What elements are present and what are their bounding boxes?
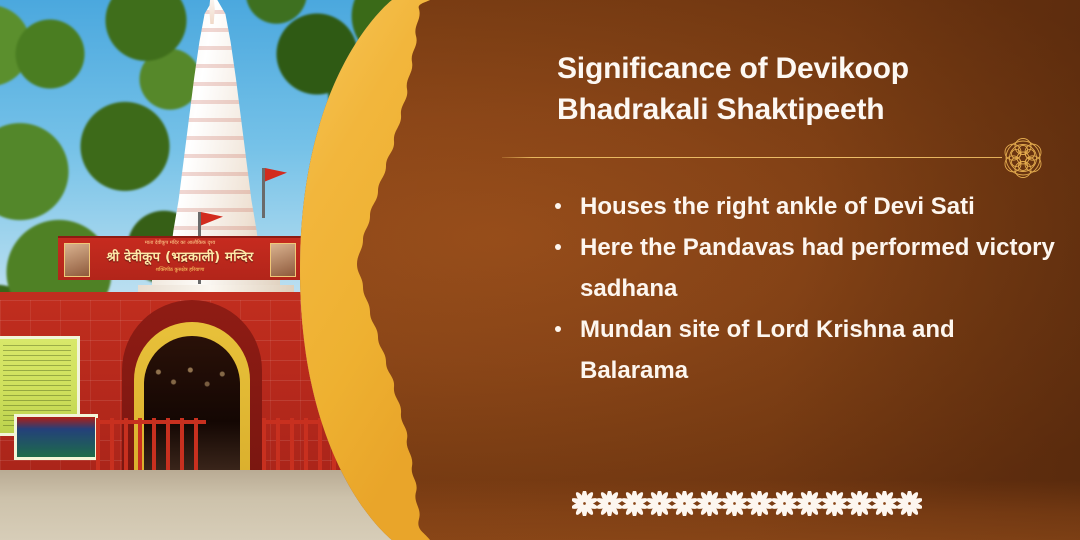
flower-divider-row <box>572 486 932 520</box>
gold-divider-line <box>502 157 1002 158</box>
flower-ornament-icon <box>697 491 722 516</box>
foreground-tree-trunk <box>0 0 500 540</box>
page-title-line-1: Significance of Devikoop <box>557 48 1027 89</box>
flower-ornament-icon <box>622 491 647 516</box>
flower-ornament-icon <box>572 491 597 516</box>
list-item-label: Mundan site of Lord Krishna and Balarama <box>580 316 955 384</box>
page-title: Significance of Devikoop Bhadrakali Shak… <box>557 48 1027 130</box>
flower-ornament-icon <box>747 491 772 516</box>
temple-flag-3 <box>344 206 347 302</box>
flower-ornament-icon <box>872 491 897 516</box>
flower-ornament-icon <box>897 491 922 516</box>
flower-ornament-icon <box>722 491 747 516</box>
temple-photo: माता देवीकूप मंदिर का आलौकिक दृश्य श्री … <box>0 0 500 540</box>
mandala-rosette-icon <box>995 130 1051 186</box>
list-item: Here the Pandavas had performed victory … <box>545 227 1065 309</box>
list-item: Mundan site of Lord Krishna and Balarama <box>545 309 1065 391</box>
notice-board-right-text-lines <box>389 339 473 427</box>
bicycle <box>400 424 444 468</box>
flower-ornament-icon <box>672 491 697 516</box>
flower-ornament-icon <box>797 491 822 516</box>
bicycle-wheel-front <box>400 438 428 466</box>
bullet-point-icon <box>555 244 561 250</box>
list-item: Houses the right ankle of Devi Sati <box>545 186 1065 227</box>
flower-ornament-icon <box>847 491 872 516</box>
bullet-list: Houses the right ankle of Devi Sati Here… <box>545 186 1065 391</box>
bicycle-wheel-rear <box>420 438 448 466</box>
temple-shikhara-secondary <box>300 190 372 300</box>
list-item-label: Here the Pandavas had performed victory … <box>580 234 1055 302</box>
notice-board-right <box>380 330 482 436</box>
photo-scene: माता देवीकूप मंदिर का आलौकिक दृश्य श्री … <box>0 0 500 540</box>
flower-ornament-icon <box>822 491 847 516</box>
slide-root: माता देवीकूप मंदिर का आलौकिक दृश्य श्री … <box>0 0 1080 540</box>
page-title-line-2: Bhadrakali Shaktipeeth <box>557 89 1027 130</box>
content-panel: Significance of Devikoop Bhadrakali Shak… <box>500 0 1080 540</box>
flower-ornament-icon <box>647 491 672 516</box>
flower-ornament-icon <box>597 491 622 516</box>
photo-clip-region: माता देवीकूप मंदिर का आलौकिक दृश्य श्री … <box>0 0 500 540</box>
list-item-label: Houses the right ankle of Devi Sati <box>580 193 975 220</box>
bullet-point-icon <box>555 203 561 209</box>
flower-ornament-icon <box>772 491 797 516</box>
bullet-point-icon <box>555 326 561 332</box>
